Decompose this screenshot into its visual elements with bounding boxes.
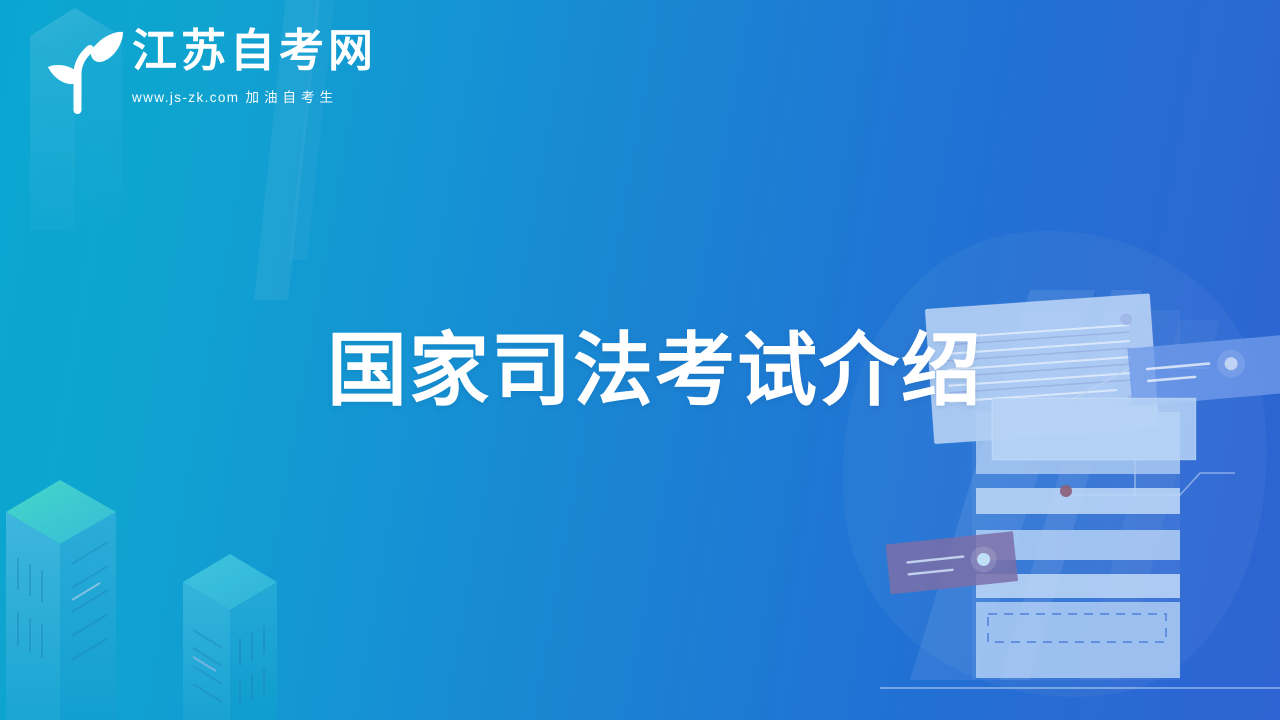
accent-card-purple — [886, 531, 1019, 594]
logo-mark — [30, 18, 126, 118]
bar-row-1 — [976, 488, 1180, 514]
sprout-leaf-icon — [30, 18, 126, 118]
brand-tagline: www.js-zk.com加油自考生 — [132, 86, 377, 106]
connector-lines — [1035, 368, 1235, 495]
bar-row-2 — [976, 530, 1180, 560]
isometric-city-group — [0, 440, 420, 720]
short-building — [183, 554, 277, 720]
accent-dot — [1060, 485, 1072, 497]
bar-row-3 — [976, 574, 1180, 598]
info-card-right — [1127, 335, 1280, 407]
brand-name: 江苏自考网 — [132, 28, 377, 73]
brand-url: www.js-zk.com — [132, 90, 239, 105]
site-logo[interactable]: 江苏自考网 www.js-zk.com加油自考生 — [30, 18, 377, 118]
dashed-placeholder-box — [976, 602, 1180, 678]
page-title: 国家司法考试介绍 — [327, 330, 983, 415]
bar-rows — [976, 488, 1180, 598]
logo-text-group: 江苏自考网 www.js-zk.com加油自考生 — [132, 18, 377, 106]
background-blob-shape — [809, 202, 1280, 720]
tall-building — [6, 480, 116, 720]
brand-slogan: 加油自考生 — [245, 90, 338, 105]
hero-banner: 江苏自考网 www.js-zk.com加油自考生 — [0, 0, 1280, 720]
panel-block — [976, 398, 1196, 474]
